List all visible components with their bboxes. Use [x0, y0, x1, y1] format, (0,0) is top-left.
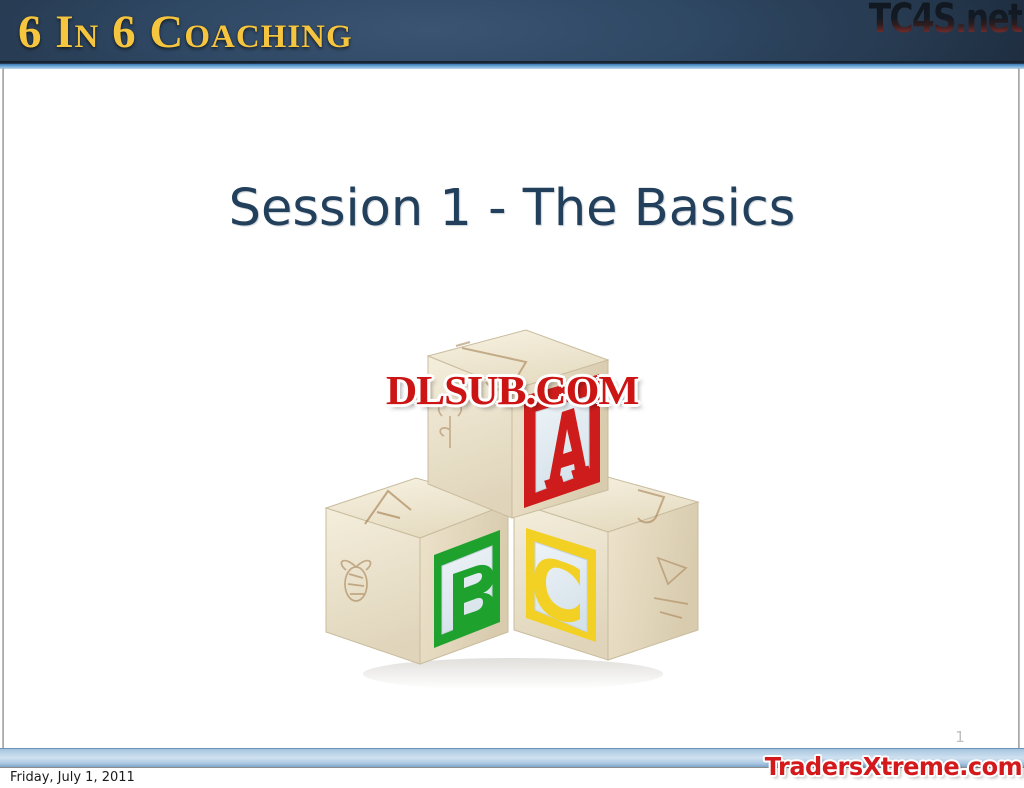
abc-blocks-figure — [308, 312, 718, 708]
block-b — [326, 478, 508, 664]
tradersxtreme-logo: TradersXtreme.com — [765, 752, 1022, 782]
slide-title: Session 1 - The Basics — [0, 178, 1024, 240]
slide-page-number: 1 — [940, 728, 980, 746]
footer-date: Friday, July 1, 2011 — [10, 769, 135, 786]
header-underline-rule — [0, 64, 1024, 69]
block-a — [428, 330, 608, 518]
presentation-slide: 6 In 6 Coaching TC4S.net Session 1 - The… — [0, 0, 1024, 788]
abc-blocks-illustration — [308, 312, 718, 708]
brand-title: 6 In 6 Coaching — [18, 3, 353, 61]
tc4s-net-logo: TC4S.net — [868, 0, 1022, 42]
slide-frame-left-edge — [2, 68, 4, 750]
slide-frame-right-edge — [1018, 68, 1020, 750]
